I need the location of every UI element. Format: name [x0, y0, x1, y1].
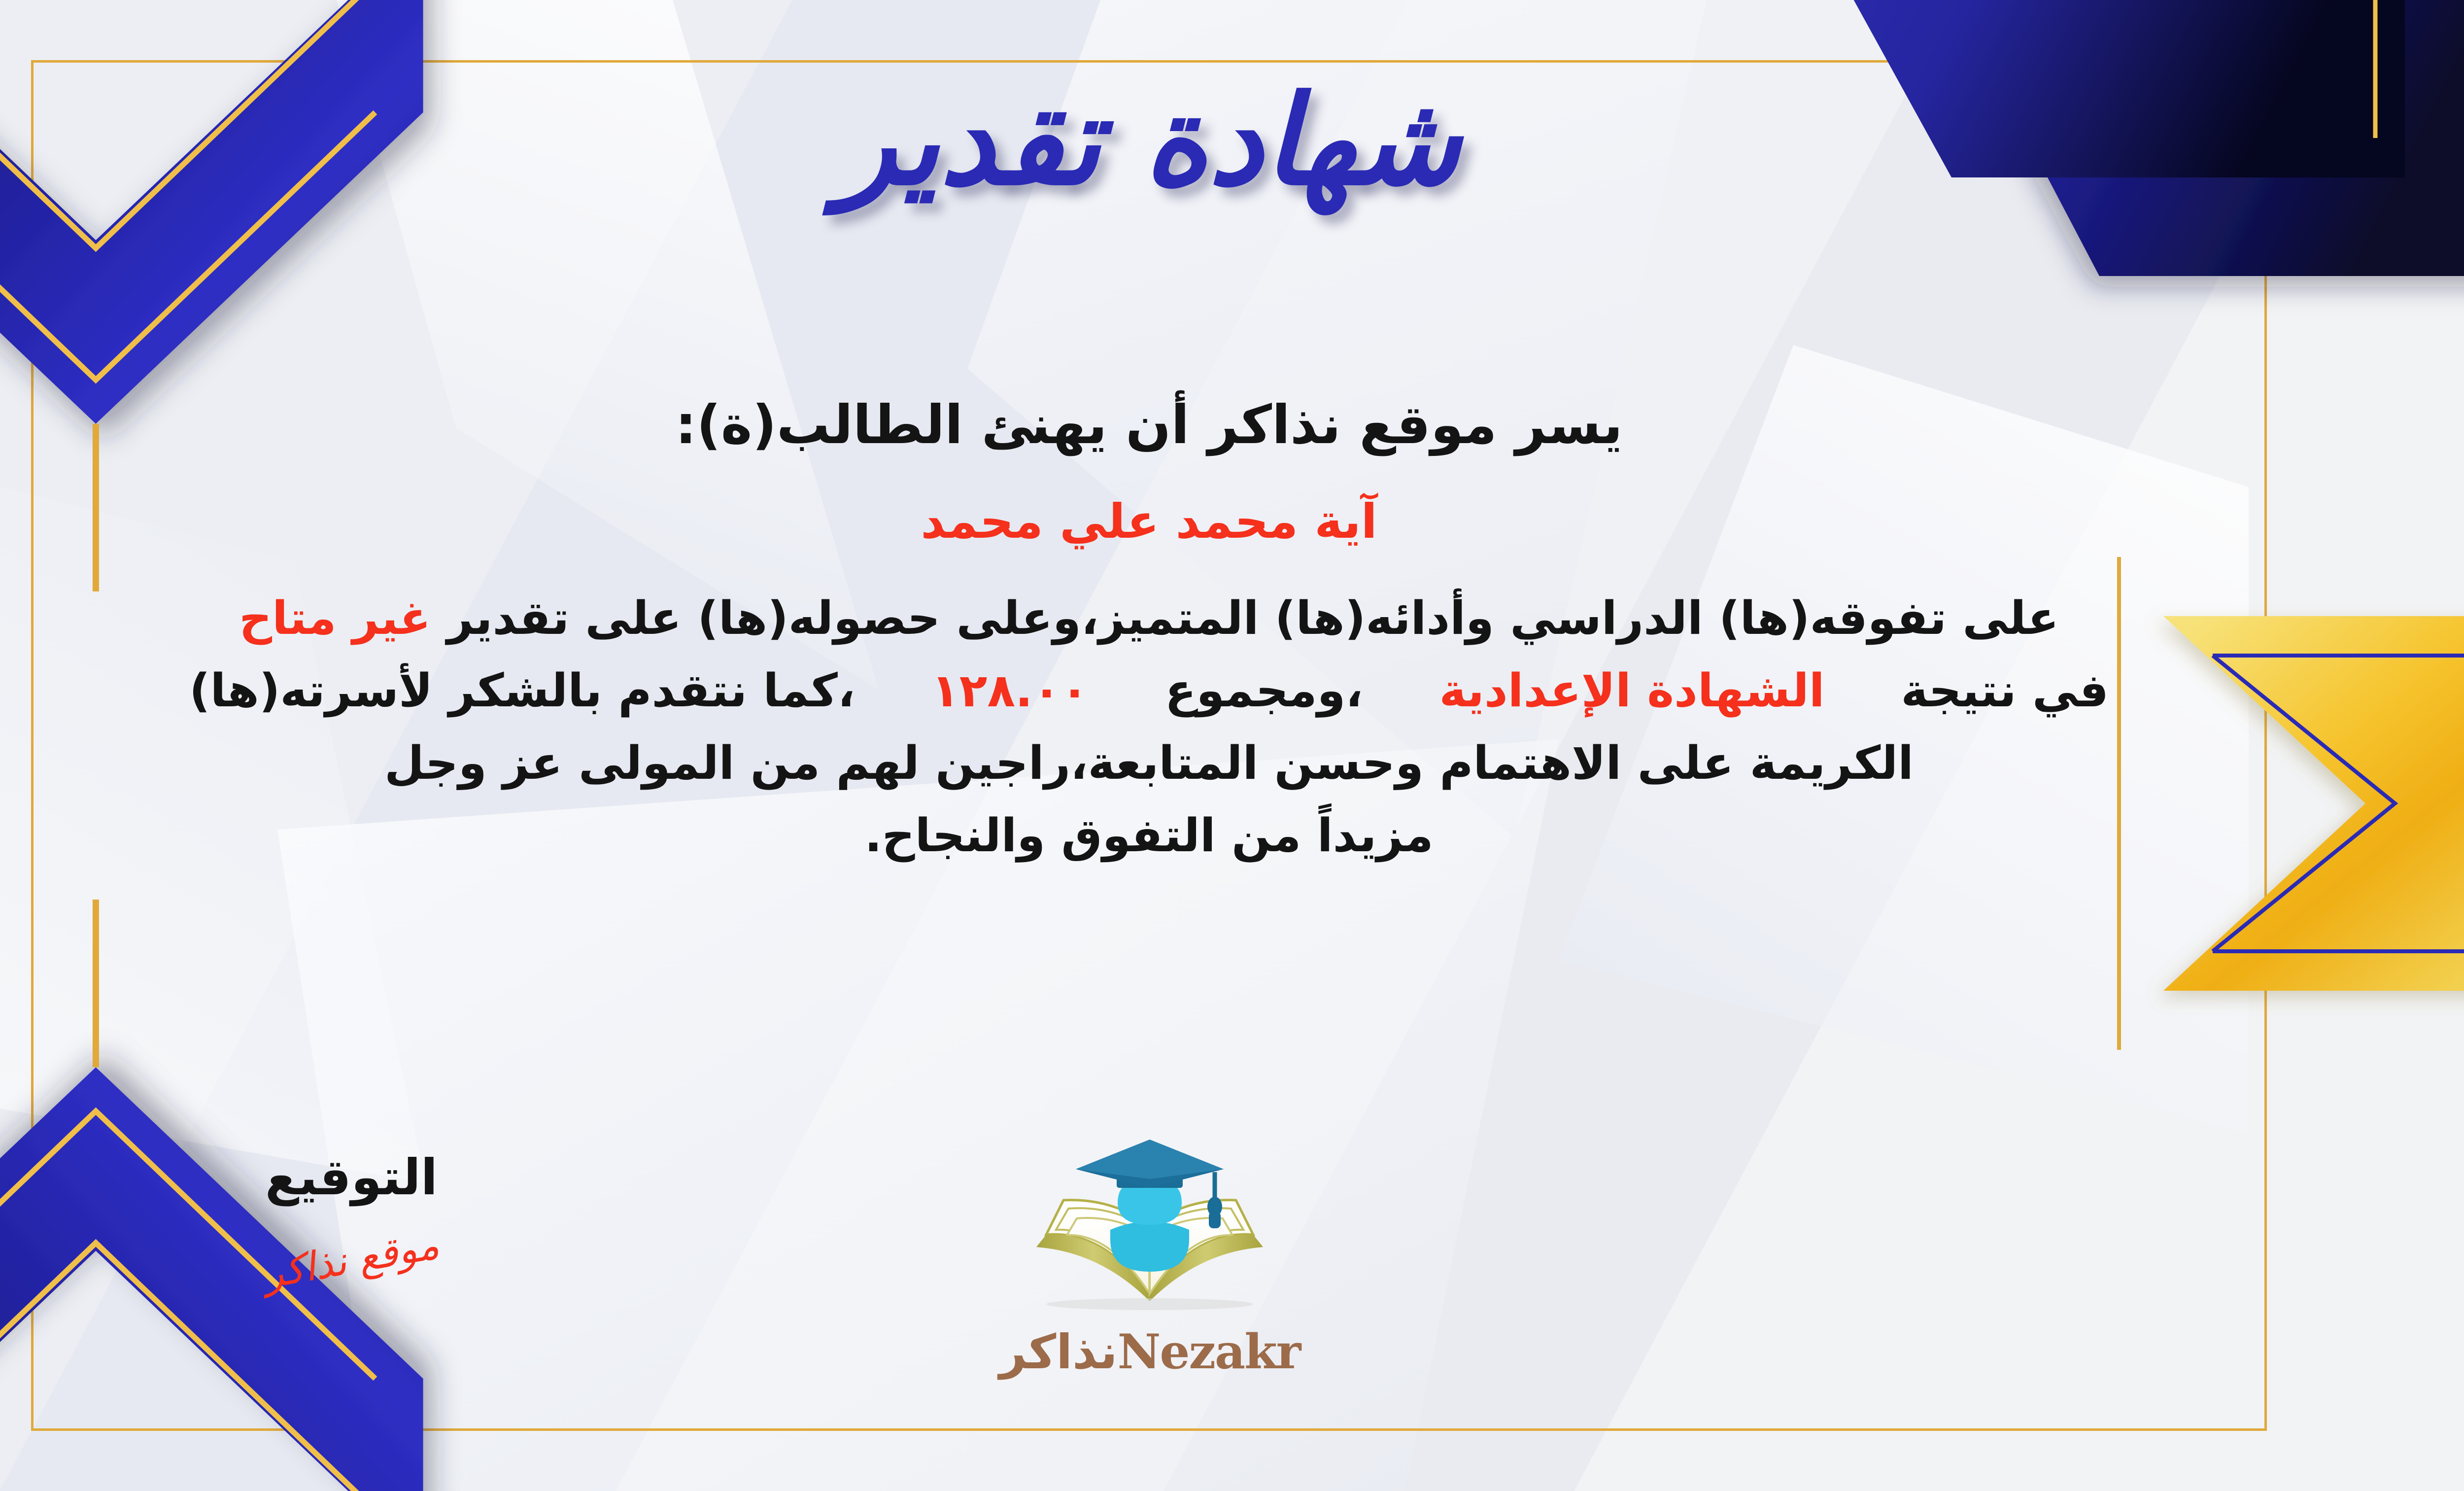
certificate-body: يسر موقع نذاكر أن يهنئ الطالب(ة): آية مح…: [46, 389, 2252, 872]
greeting-line: يسر موقع نذاكر أن يهنئ الطالب(ة):: [46, 389, 2252, 461]
site-logo: Nezakrنذاكر: [962, 1124, 1337, 1380]
logo-name-latin: Nezakr: [1118, 1324, 1300, 1380]
logo-artwork: [962, 1124, 1337, 1321]
total-score: ١٢٨.٠٠: [931, 664, 1089, 717]
paragraph-line-2-suffix: ،كما نتقدم بالشكر لأسرته(ها): [189, 664, 855, 717]
exam-name: الشهادة الإعدادية: [1439, 664, 1825, 717]
paragraph-line-2-mid: ،ومجموع: [1165, 664, 1363, 717]
grade-value: غير متاح: [239, 591, 431, 645]
paragraph-line-2-prefix: في نتيجة: [1901, 664, 2109, 717]
paragraph-line-3: الكريمة على الاهتمام وحسن المتابعة،راجين…: [46, 727, 2252, 799]
paragraph-line-2: في نتيجة الشهادة الإعدادية ،ومجموع ١٢٨.٠…: [46, 655, 2252, 727]
logo-mark: [962, 1124, 1337, 1321]
signature-block: التوقيع موقع نذاكر: [159, 1148, 544, 1283]
logo-name-arabic: نذاكر: [999, 1324, 1118, 1380]
signature-label: التوقيع: [159, 1148, 544, 1206]
logo-wordmark: Nezakrنذاكر: [962, 1324, 1337, 1380]
certificate-paragraph: على تفوقه(ها) الدراسي وأدائه(ها) المتميز…: [46, 582, 2252, 872]
certificate-title: شهادة تقدير: [0, 64, 2464, 218]
paragraph-line-1-text: على تفوقه(ها) الدراسي وأدائه(ها) المتميز…: [447, 591, 2059, 645]
student-name: آية محمد علي محمد: [46, 490, 2252, 554]
certificate-page: شهادة تقدير يسر موقع نذاكر أن يهنئ الطال…: [0, 0, 2464, 1491]
paragraph-line-4: مزيداً من التفوق والنجاح.: [46, 799, 2252, 872]
paragraph-line-1: على تفوقه(ها) الدراسي وأدائه(ها) المتميز…: [46, 582, 2252, 655]
